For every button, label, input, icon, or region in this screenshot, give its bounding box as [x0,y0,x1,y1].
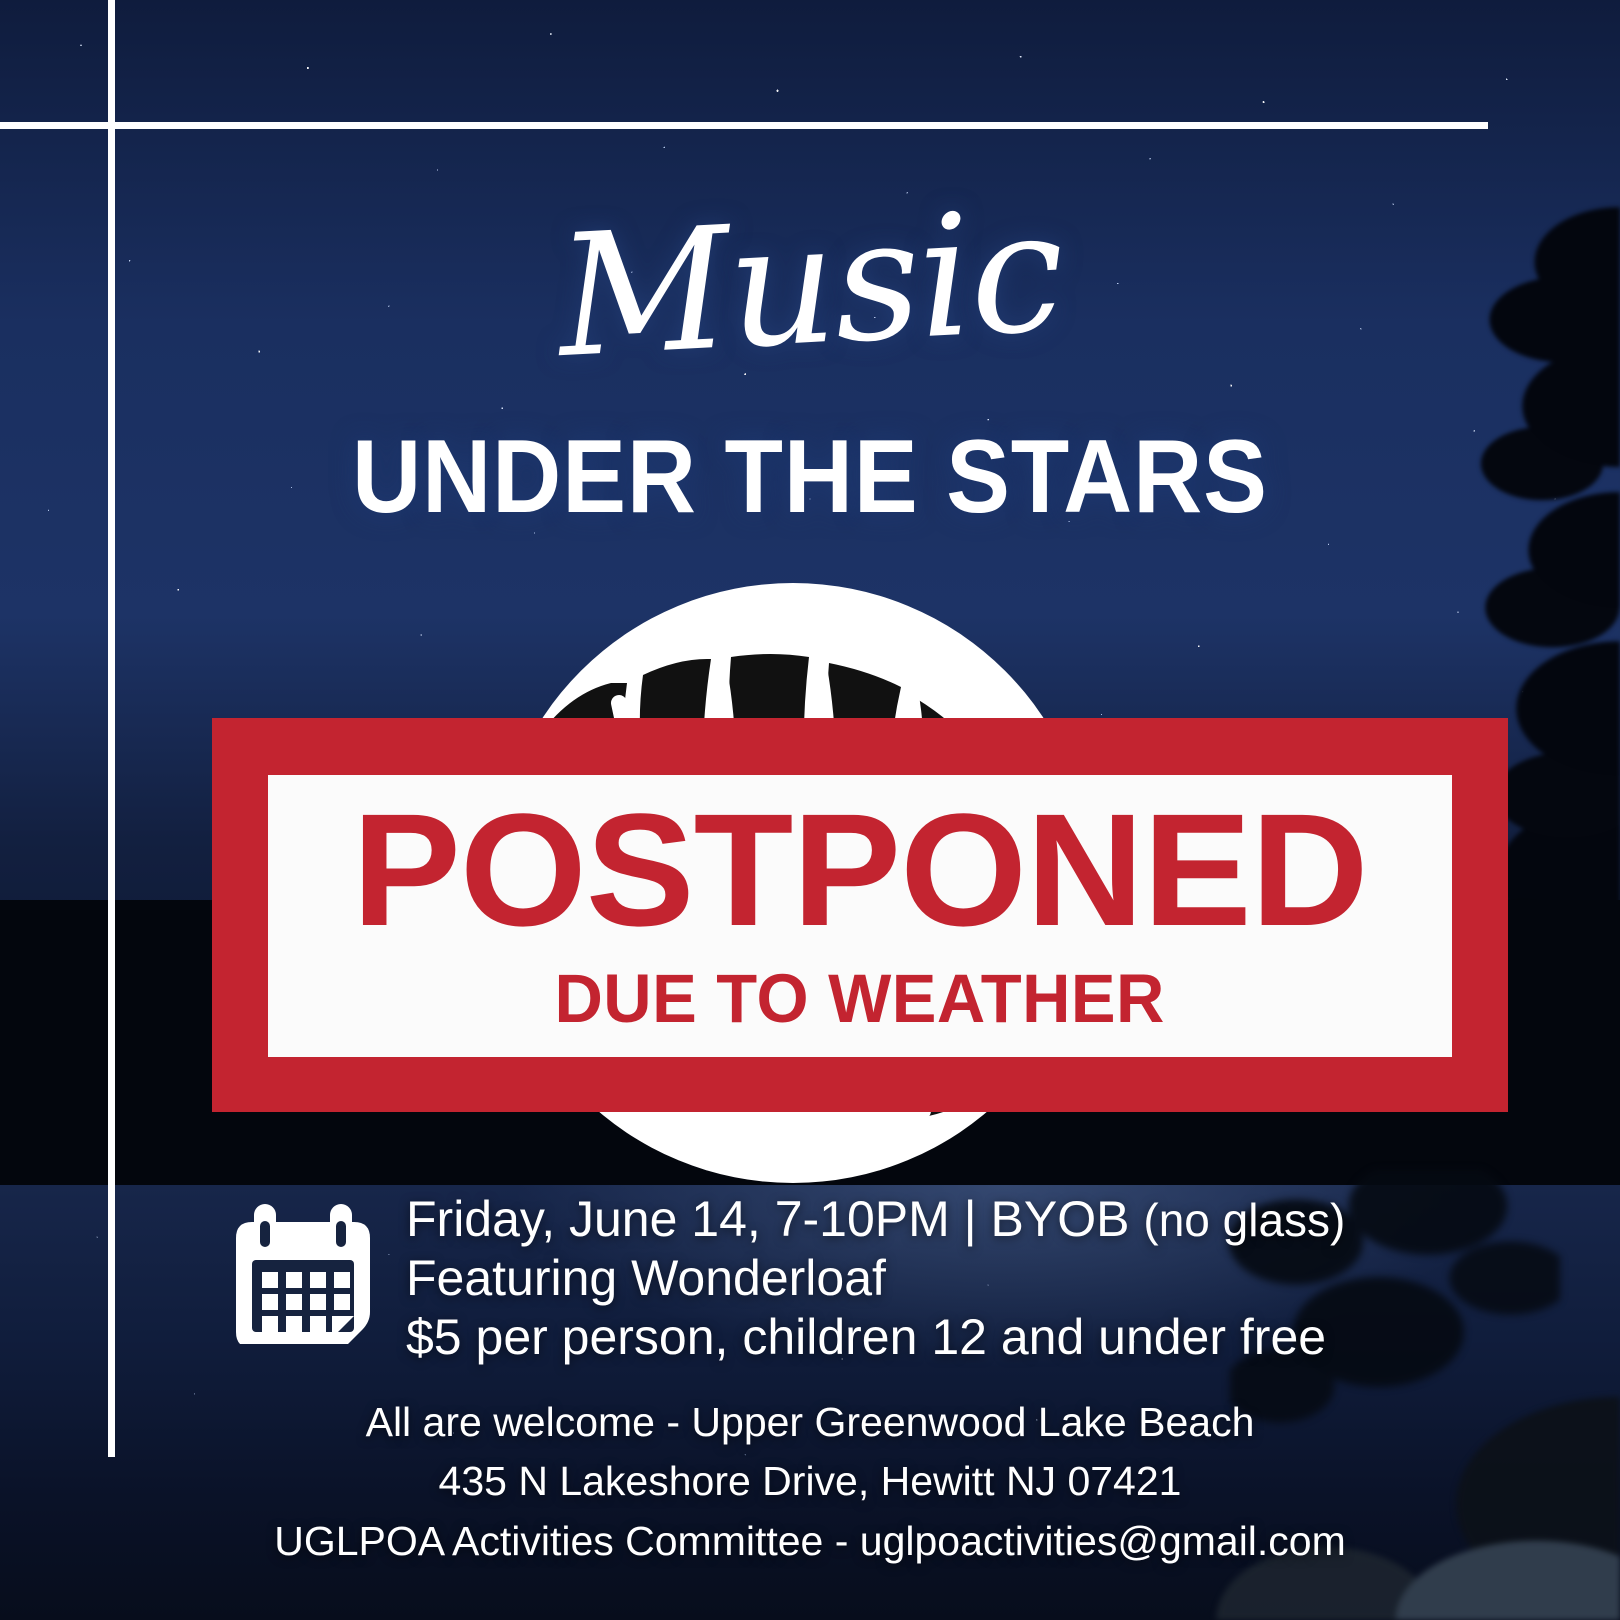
event-detail-line-2: Featuring Wonderloaf [406,1249,1345,1308]
footer: All are welcome - Upper Greenwood Lake B… [0,1393,1620,1571]
status-badge: POSTPONED [352,793,1368,947]
event-detail-line-1: Friday, June 14, 7-10PM | BYOB (no glass… [406,1190,1345,1249]
event-byob-note: (no glass) [1143,1194,1345,1246]
page-title: UNDER THE STARS [65,425,1555,529]
event-poster: Music UNDER THE STARS [0,0,1620,1620]
calendar-icon [228,1198,378,1344]
status-reason: DUE TO WEATHER [555,964,1165,1033]
frame-line-vertical [108,0,115,1457]
frame-line-horizontal [0,122,1488,129]
event-datetime: Friday, June 14, 7-10PM | BYOB [406,1191,1143,1247]
event-details: Friday, June 14, 7-10PM | BYOB (no glass… [228,1190,1345,1367]
event-details-text: Friday, June 14, 7-10PM | BYOB (no glass… [406,1190,1345,1367]
postponed-banner: POSTPONED DUE TO WEATHER [212,718,1508,1112]
event-detail-line-3: $5 per person, children 12 and under fre… [406,1308,1345,1367]
footer-line-contact: UGLPOA Activities Committee - uglpoactiv… [0,1512,1620,1571]
postponed-banner-inner: POSTPONED DUE TO WEATHER [268,775,1452,1057]
footer-line-address: 435 N Lakeshore Drive, Hewitt NJ 07421 [0,1452,1620,1511]
footer-line-venue: All are welcome - Upper Greenwood Lake B… [0,1393,1620,1452]
